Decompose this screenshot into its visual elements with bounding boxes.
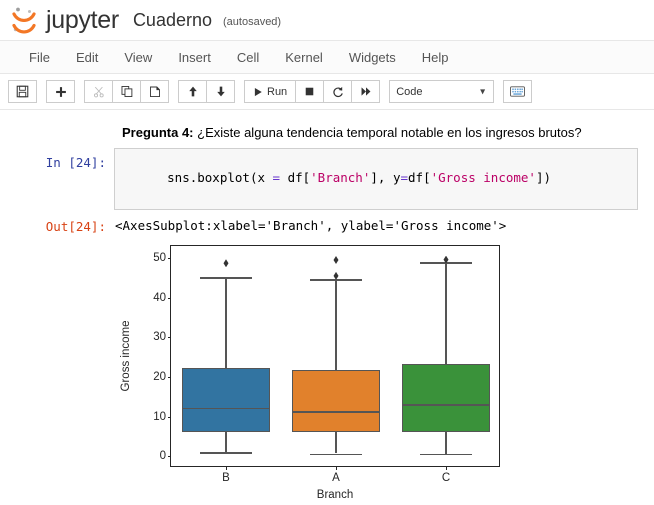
cut-cell-button[interactable] [84,80,113,103]
command-palette-button[interactable] [503,80,532,103]
save-disk-icon [16,85,29,98]
plus-icon [55,86,67,98]
add-cell-button[interactable] [46,80,75,103]
jupyter-logo-icon[interactable] [10,5,44,35]
interrupt-kernel-button[interactable] [295,80,324,103]
y-axis-tick-label: 10 [153,411,166,423]
menu-item-help[interactable]: Help [409,46,462,69]
x-axis-tick-mark [446,466,447,470]
y-axis-tick-mark [168,377,172,378]
cell-type-select-wrapper: Code ▾ [389,80,494,103]
plot-axes: Branch 01020304050BAC [170,245,500,467]
code-cell[interactable]: In [24]: sns.boxplot(x = df['Branch'], y… [0,146,654,211]
toolbar-group-clipboard [84,80,169,103]
restart-and-run-all-button[interactable] [351,80,380,103]
move-cell-down-button[interactable] [206,80,235,103]
toolbar-group-save [8,80,37,103]
toolbar-group-palette [503,80,532,103]
markdown-bold-prefix: Pregunta 4: [122,125,194,140]
whisker-lower [225,432,227,452]
menu-item-insert[interactable]: Insert [165,46,224,69]
menu-item-kernel[interactable]: Kernel [272,46,336,69]
markdown-cell-text: Pregunta 4: ¿Existe alguna tendencia tem… [122,124,638,142]
code-token: 'Branch' [310,170,370,185]
save-button[interactable] [8,80,37,103]
keyboard-icon [510,86,525,97]
code-token: df[ [408,170,431,185]
code-input-area[interactable]: sns.boxplot(x = df['Branch'], y=df['Gros… [114,148,638,211]
output-cell: Out[24]: <AxesSubplot:xlabel='Branch', y… [0,210,654,235]
markdown-question-text: ¿Existe alguna tendencia temporal notabl… [194,125,582,140]
whisker-lower [445,432,447,453]
menu-item-file[interactable]: File [16,46,63,69]
markdown-cell[interactable]: Pregunta 4: ¿Existe alguna tendencia tem… [0,110,654,146]
code-token: df[ [280,170,310,185]
y-axis-tick-mark [168,417,172,418]
code-token: = [273,170,281,185]
x-axis-tick-label: C [442,472,450,484]
code-token: 'Gross income' [431,170,536,185]
toolbar-group-run: Run [244,80,380,103]
cell-type-select[interactable]: Code [389,80,494,103]
toolbar-group-move [178,80,235,103]
scissors-icon [93,86,105,98]
menu-item-view[interactable]: View [111,46,165,69]
y-axis-tick-label: 40 [153,292,166,304]
output-prompt: Out[24]: [0,212,114,234]
copy-cell-button[interactable] [112,80,141,103]
x-axis-tick-mark [226,466,227,470]
y-axis-tick-label: 0 [160,450,166,462]
code-token: ], y [370,170,400,185]
median-line [182,408,270,410]
boxplot-box-b [182,368,270,432]
toolbar: Run Code ▾ [0,74,654,110]
boxplot-figure: Gross income Branch 01020304050BAC [120,241,520,505]
menu-item-edit[interactable]: Edit [63,46,111,69]
cap-lower [420,454,473,456]
whisker-upper [225,277,227,368]
y-axis-label: Gross income [119,245,133,467]
output-text: <AxesSubplot:xlabel='Branch', ylabel='Gr… [114,212,638,235]
move-cell-up-button[interactable] [178,80,207,103]
whisker-lower [335,432,337,454]
code-token: sns.boxplot(x [167,170,272,185]
menu-item-widgets[interactable]: Widgets [336,46,409,69]
boxplot-box-c [402,364,490,432]
x-axis-tick-label: A [332,472,340,484]
boxplot-box-a [292,370,380,431]
menu-bar: File Edit View Insert Cell Kernel Widget… [0,41,654,74]
toolbar-group-add [46,80,75,103]
y-axis-tick-mark [168,298,172,299]
cap-lower [200,452,253,454]
restart-circle-icon [332,86,344,98]
median-line [402,404,490,406]
stop-square-icon [304,86,315,97]
paste-icon [149,85,161,98]
notebook-header: jupyter Cuaderno (autosaved) [0,0,654,41]
x-axis-label: Branch [171,489,499,501]
y-axis-tick-mark [168,337,172,338]
arrow-up-icon [187,85,199,98]
y-axis-tick-label: 30 [153,331,166,343]
y-axis-tick-label: 50 [153,252,166,264]
whisker-upper [335,279,337,370]
median-line [292,411,380,413]
figure-output: Gross income Branch 01020304050BAC [0,235,654,505]
cap-lower [310,454,363,456]
cap-upper [200,277,253,279]
input-prompt: In [24]: [0,148,114,170]
menu-item-cell[interactable]: Cell [224,46,272,69]
run-button-label: Run [267,86,287,98]
outlier-marker [224,259,229,267]
copy-icon [121,85,133,98]
fast-forward-icon [360,86,372,97]
y-axis-tick-mark [168,258,172,259]
paste-cell-button[interactable] [140,80,169,103]
play-icon [253,87,263,97]
arrow-down-icon [215,85,227,98]
notebook-body: Pregunta 4: ¿Existe alguna tendencia tem… [0,110,654,503]
y-axis-tick-label: 20 [153,371,166,383]
x-axis-tick-mark [336,466,337,470]
brand-name: jupyter [46,8,119,33]
outlier-marker [334,256,339,264]
run-cell-button[interactable]: Run [244,80,296,103]
whisker-upper [445,262,447,363]
code-token: = [400,170,408,185]
notebook-title[interactable]: Cuaderno [133,11,212,29]
autosave-status: (autosaved) [223,13,281,28]
x-axis-tick-label: B [222,472,230,484]
code-token: ]) [536,170,551,185]
y-axis-tick-mark [168,456,172,457]
restart-kernel-button[interactable] [323,80,352,103]
